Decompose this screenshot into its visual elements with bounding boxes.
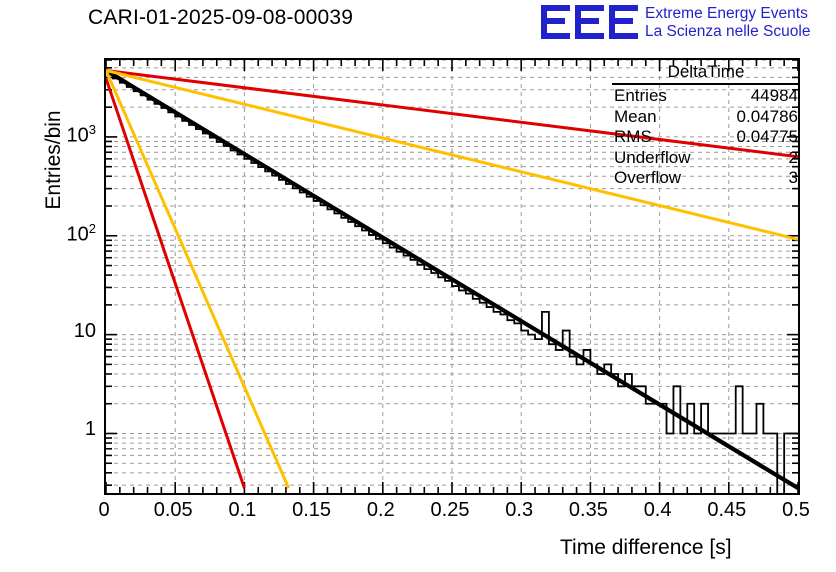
stats-row-value: 0.04786 [737,107,798,128]
stats-row-value: 0.04775 [737,127,798,148]
x-axis-tick-label: 0.4 [623,499,693,522]
eee-logo-line1: Extreme Energy Events [645,5,810,23]
y-axis-tick-label: 103 [30,122,96,148]
stats-row: Overflow3 [612,168,800,189]
stats-row: Underflow2 [612,148,800,169]
eee-logo-mark [541,4,639,40]
stats-row-label: Mean [614,107,657,128]
x-axis-tick-label: 0.3 [484,499,554,522]
x-axis-tick-label: 0.2 [346,499,416,522]
x-axis-tick-label: 0 [69,499,139,522]
x-axis-tick-label: 0.35 [553,499,623,522]
y-axis-tick-label: 102 [30,221,96,247]
stats-row-value: 2 [789,148,798,169]
eee-logo: Extreme Energy Events La Scienza nelle S… [541,3,831,43]
stats-row-label: Entries [614,86,667,107]
x-axis-tick-label: 0.05 [138,499,208,522]
stats-row-value: 44984 [751,86,798,107]
stats-rows: Entries44984Mean0.04786RMS0.04775Underfl… [612,86,800,189]
stats-row: RMS0.04775 [612,127,800,148]
fit-line [106,70,289,488]
x-axis-tick-label: 0.45 [692,499,762,522]
x-axis-tick-label: 0.15 [277,499,347,522]
x-axis-tick-label: 0.5 [761,499,831,522]
stats-row: Entries44984 [612,86,800,107]
page-title: CARI-01-2025-09-08-00039 [88,6,353,30]
eee-logo-line2: La Scienza nelle Scuole [645,23,810,41]
y-axis-tick-label: 10 [30,320,96,343]
stats-title: DeltaTime [612,62,800,85]
x-axis-title: Time difference [s] [560,536,732,560]
stats-row-label: RMS [614,127,652,148]
x-axis-tick-label: 0.25 [415,499,485,522]
y-axis-tick-label: 1 [30,418,96,441]
statistics-box: DeltaTime Entries44984Mean0.04786RMS0.04… [612,62,800,189]
x-axis-tick-label: 0.1 [207,499,277,522]
eee-logo-text: Extreme Energy Events La Scienza nelle S… [645,5,810,40]
stats-row-label: Underflow [614,148,691,169]
stats-row-value: 3 [789,168,798,189]
stats-row-label: Overflow [614,168,681,189]
stats-row: Mean0.04786 [612,107,800,128]
